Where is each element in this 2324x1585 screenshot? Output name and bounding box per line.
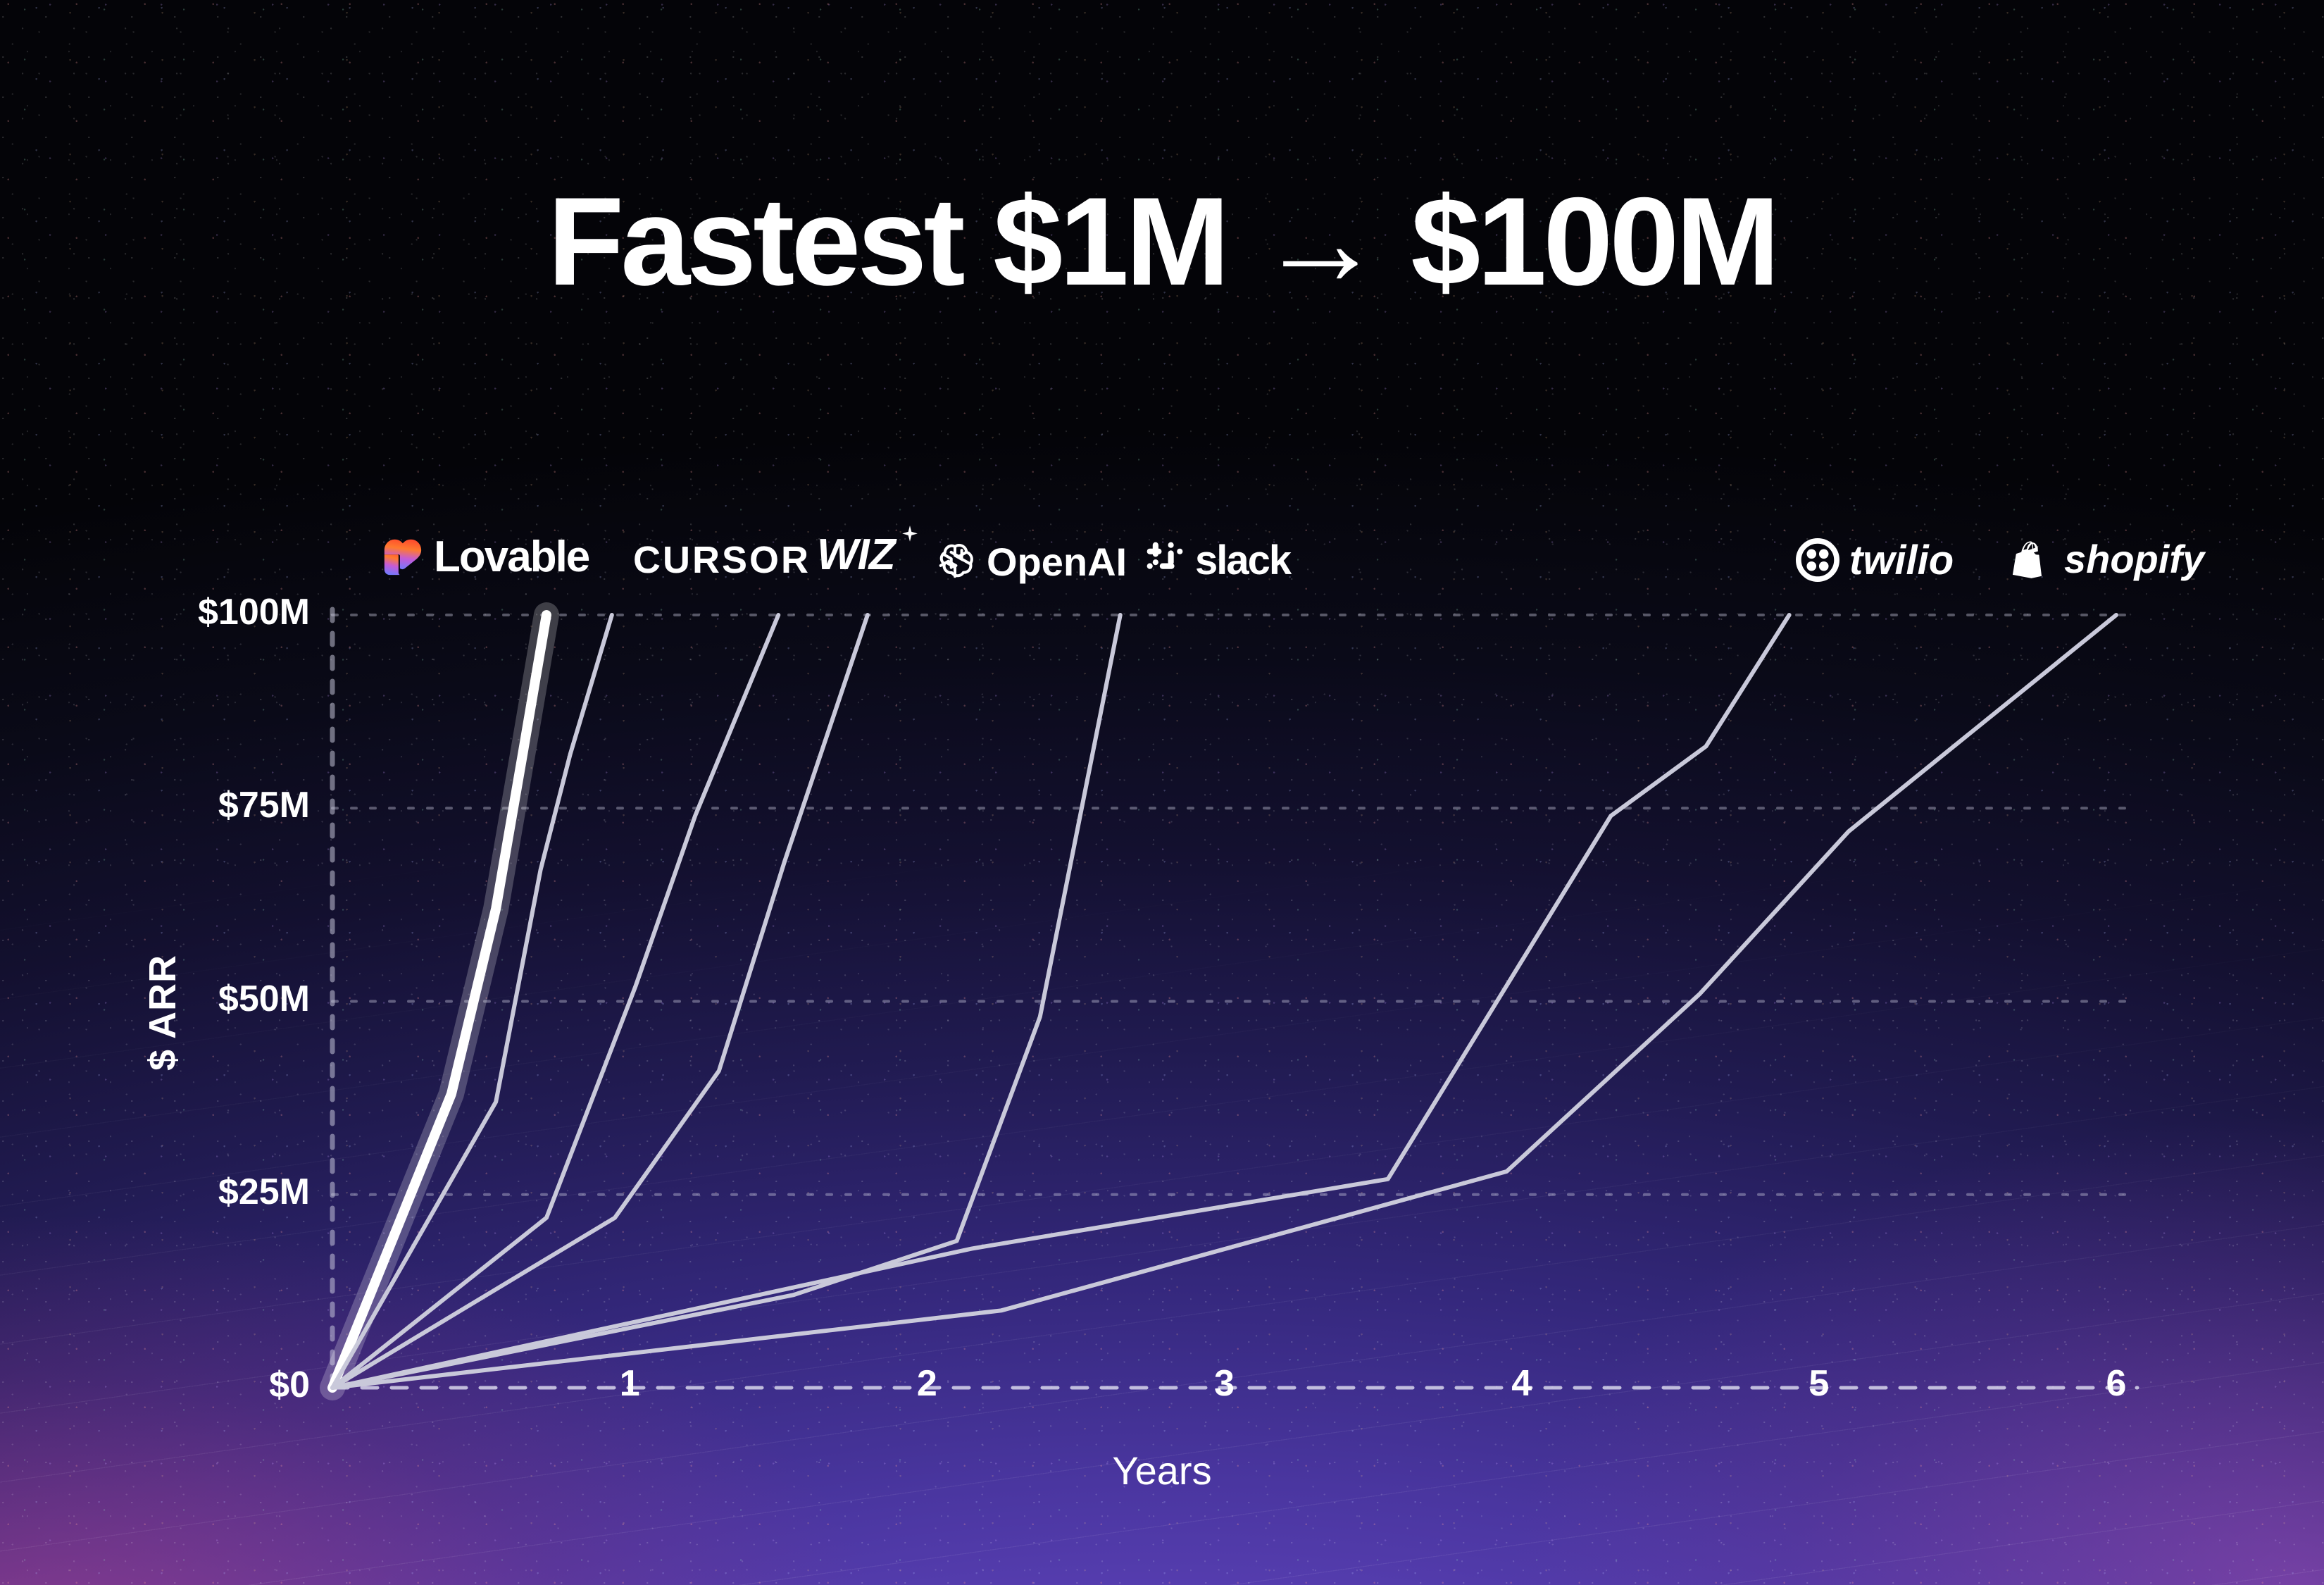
x-axis-tick-label: 3 [1193, 1362, 1256, 1405]
y-axis-tick-label: $100M [198, 591, 310, 633]
x-axis-tick-label: 6 [2085, 1362, 2148, 1405]
x-axis-title: Years [0, 1448, 2324, 1493]
y-axis-tick-label: $0 [269, 1364, 310, 1406]
chart-canvas [0, 0, 2324, 1585]
gridlines [332, 609, 2137, 1388]
y-axis-tick-label: $25M [218, 1171, 310, 1213]
x-axis-tick-label: 2 [895, 1362, 958, 1405]
x-axis-tick-label: 5 [1787, 1362, 1851, 1405]
y-axis-title: $ ARR [141, 955, 185, 1071]
x-axis-tick-label: 4 [1490, 1362, 1554, 1405]
y-axis-tick-label: $50M [218, 978, 310, 1020]
y-axis-tick-label: $75M [218, 784, 310, 826]
x-axis-tick-label: 1 [598, 1362, 661, 1405]
